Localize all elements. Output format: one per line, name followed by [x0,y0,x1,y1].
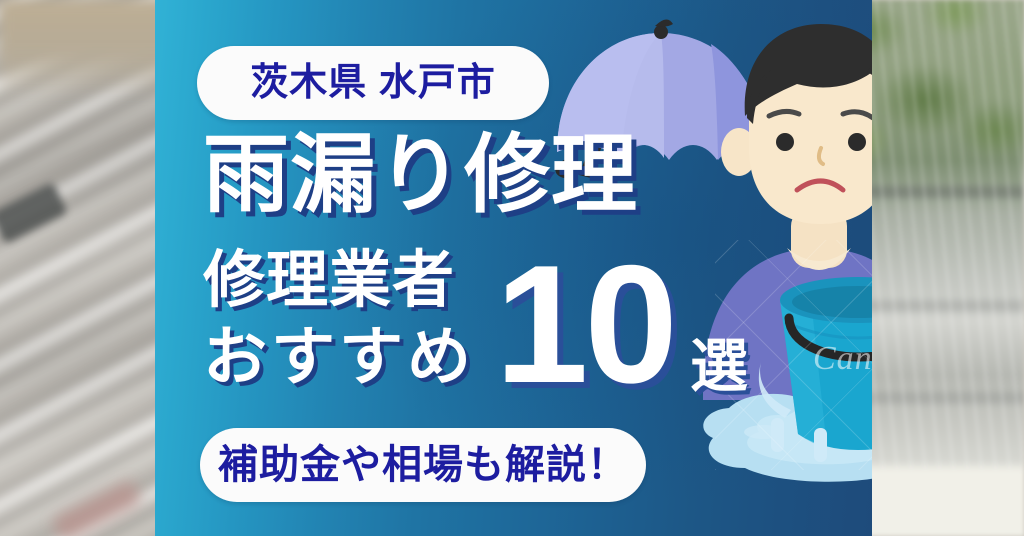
subtitle-line-1: 修理業者 [203,250,455,312]
subtitle-line-2: おすすめ [203,325,475,389]
right-window-photo [846,0,1024,536]
subsidy-badge-label: 補助金や相場も解説！ [218,445,628,485]
window-bottom-wall [846,466,1024,536]
count-suffix: 選 [690,338,748,396]
location-badge: 茨木県 水戸市 [197,46,549,120]
text-content-layer: 茨木県 水戸市 雨漏り修理 修理業者 おすすめ 10 選 補助金や相場も解説！ [155,0,872,536]
roof-top-tan-area [0,0,180,96]
location-badge-label: 茨木県 水戸市 [250,64,496,102]
count-number: 10 [495,240,674,408]
banner-root: Canva 茨木県 水戸市 雨漏り修理 修理業者 おすすめ 10 選 補助金や相… [0,0,1024,536]
page-title: 雨漏り修理 [203,132,638,218]
rain-streaks [846,0,1024,536]
subsidy-badge: 補助金や相場も解説！ [200,428,646,502]
left-roof-photo [0,0,180,536]
